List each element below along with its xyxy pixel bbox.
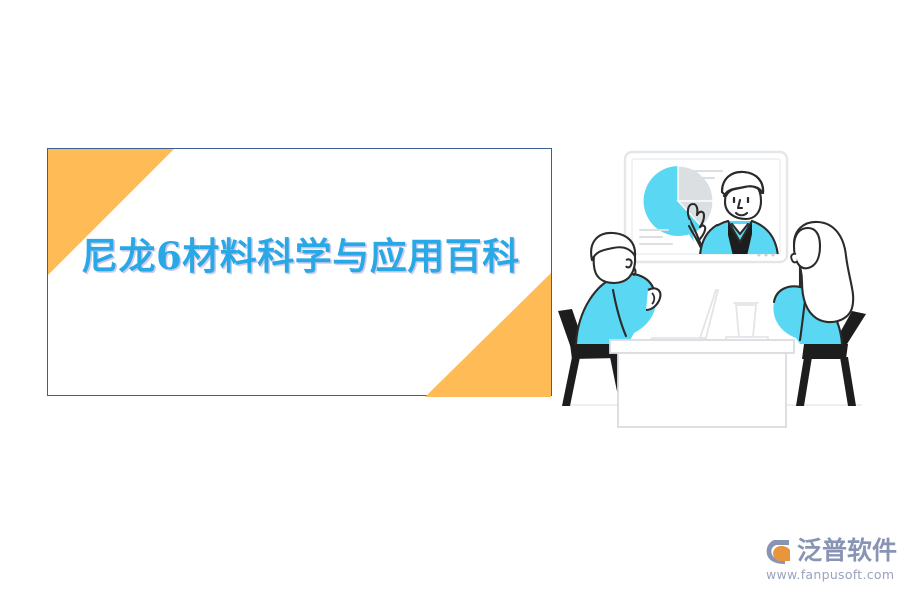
page-root: 尼龙6材料科学与应用百科 bbox=[0, 0, 900, 600]
title-banner: 尼龙6材料科学与应用百科 bbox=[47, 148, 552, 396]
desk-items bbox=[650, 290, 768, 343]
page-title: 尼龙6材料科学与应用百科 bbox=[81, 237, 551, 277]
conference-desk bbox=[610, 340, 794, 427]
corner-accent-bottom-right bbox=[425, 273, 551, 397]
fanpu-logo-icon bbox=[764, 537, 794, 565]
brand-url: www.fanpusoft.com bbox=[764, 567, 896, 582]
brand-name: 泛普软件 bbox=[797, 537, 897, 565]
screen-status-dots bbox=[758, 254, 775, 257]
video-conference-illustration bbox=[556, 138, 868, 434]
brand-logo: 泛普软件 www.fanpusoft.com bbox=[764, 536, 896, 588]
presentation-screen bbox=[625, 152, 787, 262]
